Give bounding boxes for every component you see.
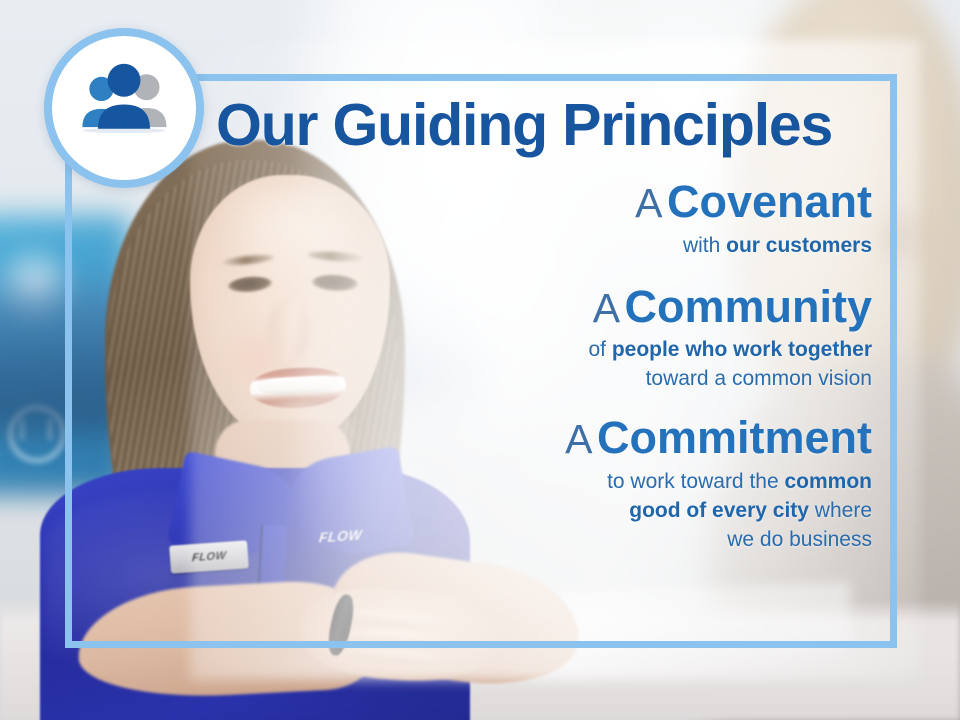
people-group-badge — [44, 28, 204, 188]
principles-list: A Covenant with our customers A Communit… — [300, 178, 872, 555]
principle-commitment: A Commitment to work toward the commongo… — [300, 414, 872, 555]
principle-description: with our customers — [300, 232, 872, 261]
principle-title: A Covenant — [300, 178, 872, 226]
principle-keyword: Community — [625, 281, 873, 332]
guiding-principles-graphic: FLOW FLOW — [0, 0, 960, 720]
principle-title: A Community — [300, 283, 872, 331]
principle-description: of people who work togethertoward a comm… — [300, 336, 872, 394]
employee-name-badge: FLOW — [169, 540, 249, 573]
principle-covenant: A Covenant with our customers — [300, 178, 872, 261]
principle-keyword: Covenant — [667, 176, 872, 227]
people-group-icon — [72, 56, 176, 160]
principle-keyword: Commitment — [597, 412, 872, 463]
blurred-customer-ear — [874, 200, 926, 272]
principle-title: A Commitment — [300, 414, 872, 462]
principle-article: A — [565, 416, 592, 462]
principle-article: A — [593, 285, 620, 331]
principle-description: to work toward the commongood of every c… — [300, 468, 872, 555]
name-badge-brand-text: FLOW — [191, 550, 226, 564]
page-title: Our Guiding Principles — [216, 96, 866, 155]
principle-community: A Community of people who work togethert… — [300, 283, 872, 395]
principle-article: A — [635, 180, 662, 226]
